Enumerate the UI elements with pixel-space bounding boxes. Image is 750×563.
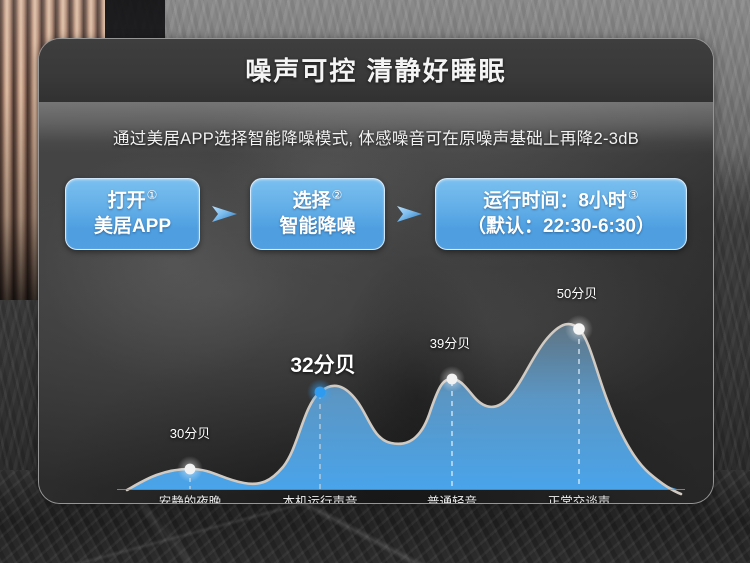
step-2-text-1: 选择	[293, 191, 331, 212]
step-1-text-1: 打开	[108, 191, 146, 212]
chart-axis-label-1: 安静的夜晚	[159, 495, 222, 504]
step-3-line-2: （默认：22:30-6:30）	[436, 214, 686, 239]
step-box-open-app[interactable]: 打开① 美居APP	[65, 178, 200, 250]
feature-panel: 噪声可控 清静好睡眠 通过美居APP选择智能降噪模式, 体感噪音可在原噪声基础上…	[38, 38, 714, 504]
step-1-line-2: 美居APP	[66, 214, 199, 239]
chart-axis-label-3-line-1: 普通轻音	[408, 495, 496, 504]
chart-value-label-4: 50分贝	[557, 283, 597, 302]
chart-marker-1	[185, 464, 196, 475]
step-1-badge: ①	[147, 188, 158, 202]
step-1-line-1: 打开①	[66, 188, 199, 213]
step-3-line-1: 运行时间：8小时③	[436, 188, 686, 213]
step-box-select-mode[interactable]: 选择② 智能降噪	[250, 178, 385, 250]
flow-arrow-2	[385, 203, 435, 225]
step-2-line-1: 选择②	[251, 188, 384, 213]
step-2-badge: ②	[332, 188, 343, 202]
screenshot-root: 噪声可控 清静好睡眠 通过美居APP选择智能降噪模式, 体感噪音可在原噪声基础上…	[0, 0, 750, 563]
panel-subtitle: 通过美居APP选择智能降噪模式, 体感噪音可在原噪声基础上再降2-3dB	[39, 125, 713, 149]
chart-marker-2	[315, 387, 326, 398]
chart-value-label-2: 32分贝	[290, 349, 355, 379]
step-flow: 打开① 美居APP 选择	[65, 174, 687, 254]
chart-value-label-1: 30分贝	[170, 423, 210, 442]
noise-level-chart: 30分贝 32分贝 39分贝 50分贝 安静的夜晚 本机运行声音 普通轻音 冰箱…	[61, 261, 691, 499]
chart-marker-3	[447, 374, 458, 385]
step-3-badge: ③	[628, 188, 639, 202]
chart-axis-label-3: 普通轻音 冰箱运行的声音	[408, 495, 496, 504]
step-2-line-2: 智能降噪	[251, 214, 384, 239]
step-3-text-1: 运行时间：8小时	[483, 191, 627, 212]
chart-area-fill	[129, 324, 677, 489]
chart-value-label-3: 39分贝	[430, 333, 470, 352]
page-title: 噪声可控 清静好睡眠	[39, 51, 713, 88]
chart-marker-4	[573, 323, 585, 335]
chart-axis-label-2: 本机运行声音	[282, 495, 357, 504]
flow-arrow-1	[200, 203, 250, 225]
step-box-run-time[interactable]: 运行时间：8小时③ （默认：22:30-6:30）	[435, 178, 687, 250]
chart-axis-label-4: 正常交谈声	[548, 495, 611, 504]
